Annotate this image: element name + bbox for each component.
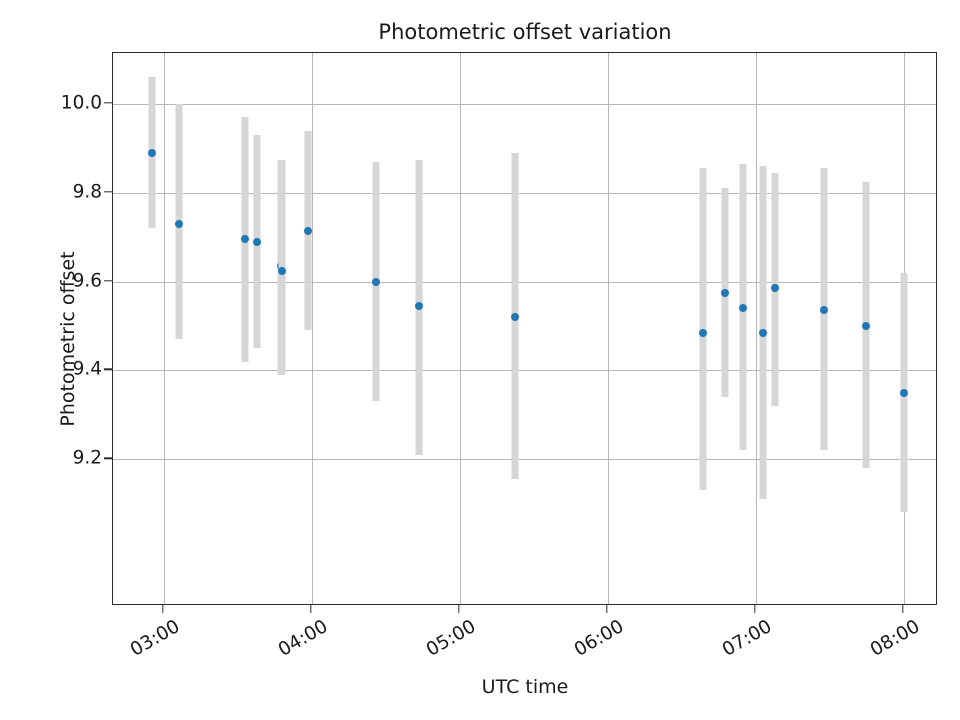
data-layer (113, 53, 936, 604)
x-axis-label-text: UTC time (482, 676, 569, 698)
y-axis-label: Photometric offset (57, 209, 79, 469)
data-point-marker[interactable] (820, 306, 828, 314)
data-point-marker[interactable] (759, 329, 767, 337)
y-tick-mark (104, 102, 112, 103)
y-tick-label: 9.4 (2, 359, 102, 380)
y-axis-label-text: Photometric offset (57, 251, 79, 426)
data-point-marker[interactable] (241, 235, 249, 243)
data-point-marker[interactable] (511, 313, 519, 321)
data-point-marker[interactable] (721, 289, 729, 297)
data-point-marker[interactable] (771, 284, 779, 292)
x-tick-label: 04:00 (275, 616, 332, 661)
data-point-marker[interactable] (699, 329, 707, 337)
data-point-marker[interactable] (253, 238, 261, 246)
x-axis-label: UTC time (0, 676, 960, 698)
y-tick-mark (104, 280, 112, 281)
y-tick-mark (104, 369, 112, 370)
data-point-marker[interactable] (304, 227, 312, 235)
y-axis-ticks: 10.09.89.69.49.2 (0, 0, 102, 720)
x-tick-mark (162, 605, 163, 613)
y-tick-label: 9.8 (2, 181, 102, 202)
y-tick-mark (104, 457, 112, 458)
y-tick-mark (104, 191, 112, 192)
data-point-marker[interactable] (739, 304, 747, 312)
y-tick-label: 10.0 (2, 93, 102, 114)
x-tick-mark (458, 605, 459, 613)
x-tick-label: 07:00 (719, 616, 776, 661)
x-tick-mark (606, 605, 607, 613)
y-tick-label: 9.6 (2, 270, 102, 291)
x-tick-mark (902, 605, 903, 613)
data-point-marker[interactable] (900, 389, 908, 397)
data-point-marker[interactable] (372, 278, 380, 286)
chart-title-text: Photometric offset variation (378, 20, 671, 44)
data-point-marker[interactable] (862, 322, 870, 330)
x-tick-mark (754, 605, 755, 613)
x-tick-label: 06:00 (571, 616, 628, 661)
chart-figure: Photometric offset variation 10.09.89.69… (0, 0, 960, 720)
x-tick-label: 08:00 (867, 616, 924, 661)
x-tick-label: 03:00 (127, 616, 184, 661)
data-point-marker[interactable] (278, 267, 286, 275)
data-point-marker[interactable] (415, 302, 423, 310)
x-tick-label: 05:00 (423, 616, 480, 661)
plot-area (112, 52, 937, 605)
data-point-marker[interactable] (175, 220, 183, 228)
y-tick-label: 9.2 (2, 448, 102, 469)
chart-title: Photometric offset variation (0, 20, 960, 44)
x-tick-mark (310, 605, 311, 613)
data-point-marker[interactable] (148, 149, 156, 157)
